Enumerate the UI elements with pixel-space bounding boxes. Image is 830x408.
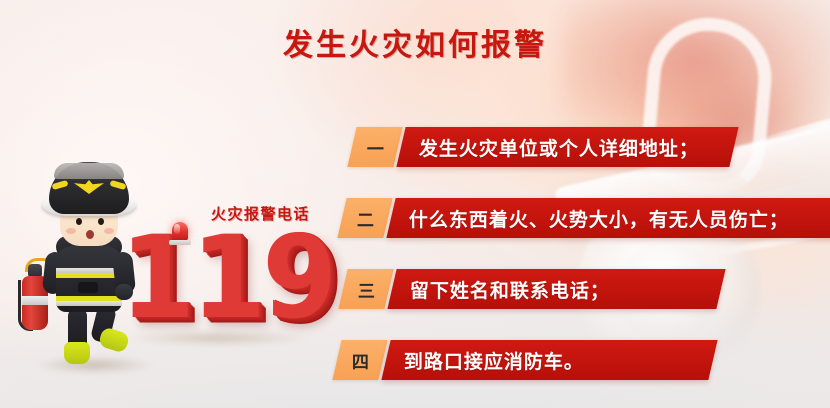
mascot-left-boot (64, 342, 90, 364)
step-text-2: 什么东西着火、火势大小，有无人员伤亡； (391, 205, 789, 232)
step-text-1: 发生火灾单位或个人详细地址； (401, 134, 699, 161)
mascot-shadow (34, 356, 154, 374)
step-bar-1: 发生火灾单位或个人详细地址； (396, 127, 738, 167)
mascot-right-eye (98, 218, 104, 225)
mascot-left-blush (66, 228, 76, 234)
siren-light-base (169, 240, 191, 245)
siren-light-glass (174, 224, 180, 234)
step-item-2[interactable]: 二 什么东西着火、火势大小，有无人员伤亡； (342, 198, 830, 238)
poster-canvas: 发生火灾如何报警 火灾报警电话 119 (0, 0, 830, 408)
step-index-2: 二 (357, 206, 374, 231)
mascot-left-eye (76, 218, 82, 225)
reflective-stripe-silver-lower (56, 301, 122, 306)
step-badge-1: 一 (347, 127, 402, 167)
step-index-1: 一 (367, 135, 384, 160)
step-badge-4: 四 (332, 340, 387, 380)
step-bar-4: 到路口接应消防车。 (381, 340, 717, 380)
step-item-1[interactable]: 一 发生火灾单位或个人详细地址； (352, 127, 734, 167)
mascot-right-blush (104, 228, 114, 234)
hotline-number: 119 (120, 222, 333, 336)
helmet-ridge (54, 163, 124, 179)
step-badge-2: 二 (337, 198, 392, 238)
step-text-3: 留下姓名和联系电话； (392, 276, 610, 303)
reflective-stripe-yellow-upper (56, 273, 122, 278)
step-bar-3: 留下姓名和联系电话； (387, 269, 725, 309)
step-bar-2: 什么东西着火、火势大小，有无人员伤亡； (386, 198, 830, 238)
mascot-belt-buckle (78, 282, 98, 293)
mascot-mouth (86, 230, 94, 239)
step-index-3: 三 (358, 277, 375, 302)
page-title: 发生火灾如何报警 (0, 20, 830, 64)
step-item-4[interactable]: 四 到路口接应消防车。 (337, 340, 713, 380)
step-item-3[interactable]: 三 留下姓名和联系电话； (343, 269, 721, 309)
step-text-4: 到路口接应消防车。 (386, 347, 584, 374)
step-badge-3: 三 (338, 269, 393, 309)
step-index-4: 四 (352, 348, 369, 373)
extinguisher-label-band (22, 296, 48, 305)
